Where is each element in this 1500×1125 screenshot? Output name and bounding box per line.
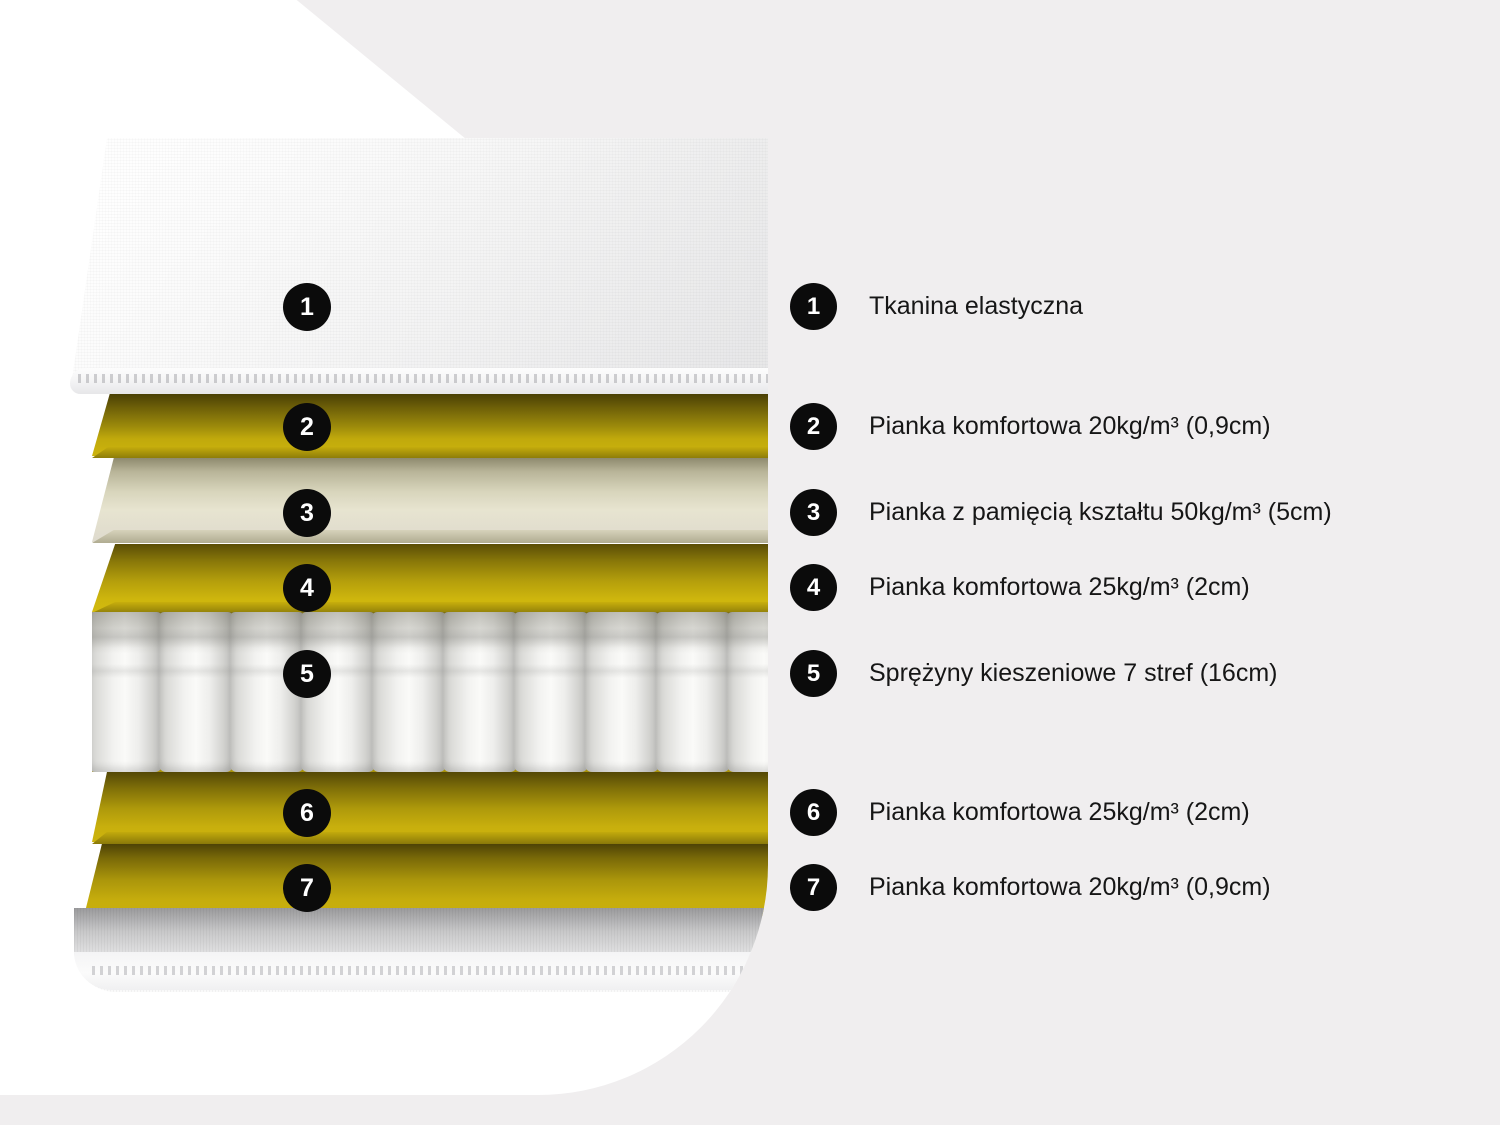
mattress-cutaway-illustration: 1234567 (0, 0, 768, 1095)
mattress-layer-1-stitching (78, 374, 768, 383)
pocket-spring (443, 612, 517, 772)
legend-row-7[interactable]: 7Pianka komfortowa 20kg/m³ (0,9cm) (790, 864, 1271, 911)
pocket-spring (372, 612, 446, 772)
legend-row-1[interactable]: 1Tkanina elastyczna (790, 283, 1083, 330)
legend-badge-3: 3 (790, 489, 837, 536)
photo-badge-3: 3 (283, 489, 331, 537)
legend-badge-1: 1 (790, 283, 837, 330)
diagram-stage: 1234567 1Tkanina elastyczna2Pianka komfo… (0, 0, 1500, 1125)
mattress-layer-6-comfort-foam (92, 772, 768, 842)
photo-badge-5: 5 (283, 650, 331, 698)
pocket-spring (585, 612, 659, 772)
legend-label-1: Tkanina elastyczna (869, 292, 1083, 321)
legend-label-3: Pianka z pamięcią kształtu 50kg/m³ (5cm) (869, 498, 1332, 527)
product-photo-plate: 1234567 (0, 0, 768, 1095)
legend-badge-7: 7 (790, 864, 837, 911)
legend-row-4[interactable]: 4Pianka komfortowa 25kg/m³ (2cm) (790, 564, 1250, 611)
mattress-layer-3-memory-foam (92, 458, 768, 542)
legend-row-5[interactable]: 5Sprężyny kieszeniowe 7 stref (16cm) (790, 650, 1277, 697)
mattress-layer-2-edge (92, 446, 768, 458)
legend-badge-6: 6 (790, 789, 837, 836)
legend-label-7: Pianka komfortowa 20kg/m³ (0,9cm) (869, 873, 1271, 902)
mattress-layer-5-pocket-springs (92, 612, 768, 772)
legend-row-3[interactable]: 3Pianka z pamięcią kształtu 50kg/m³ (5cm… (790, 489, 1332, 536)
mattress-layer-3-edge (92, 530, 768, 543)
layer-legend-list: 1Tkanina elastyczna2Pianka komfortowa 20… (790, 0, 1490, 1125)
photo-badge-2: 2 (283, 403, 331, 451)
mattress-base-stitching (92, 966, 768, 975)
photo-badge-1: 1 (283, 283, 331, 331)
pocket-spring (92, 612, 162, 772)
mattress-layer-4-comfort-foam (92, 544, 768, 612)
legend-badge-5: 5 (790, 650, 837, 697)
mattress-layer-1-weave-texture (72, 138, 768, 380)
photo-badge-4: 4 (283, 564, 331, 612)
mattress-layer-7-comfort-foam (84, 844, 768, 916)
legend-row-6[interactable]: 6Pianka komfortowa 25kg/m³ (2cm) (790, 789, 1250, 836)
legend-badge-2: 2 (790, 403, 837, 450)
legend-label-6: Pianka komfortowa 25kg/m³ (2cm) (869, 798, 1250, 827)
legend-label-2: Pianka komfortowa 20kg/m³ (0,9cm) (869, 412, 1271, 441)
legend-badge-4: 4 (790, 564, 837, 611)
legend-label-4: Pianka komfortowa 25kg/m³ (2cm) (869, 573, 1250, 602)
legend-label-5: Sprężyny kieszeniowe 7 stref (16cm) (869, 659, 1277, 688)
pocket-spring (656, 612, 730, 772)
legend-row-2[interactable]: 2Pianka komfortowa 20kg/m³ (0,9cm) (790, 403, 1271, 450)
photo-badge-7: 7 (283, 864, 331, 912)
photo-badge-6: 6 (283, 789, 331, 837)
pocket-spring (727, 612, 768, 772)
pocket-spring (514, 612, 588, 772)
mattress-layer-6-edge (92, 832, 768, 844)
pocket-spring (159, 612, 233, 772)
